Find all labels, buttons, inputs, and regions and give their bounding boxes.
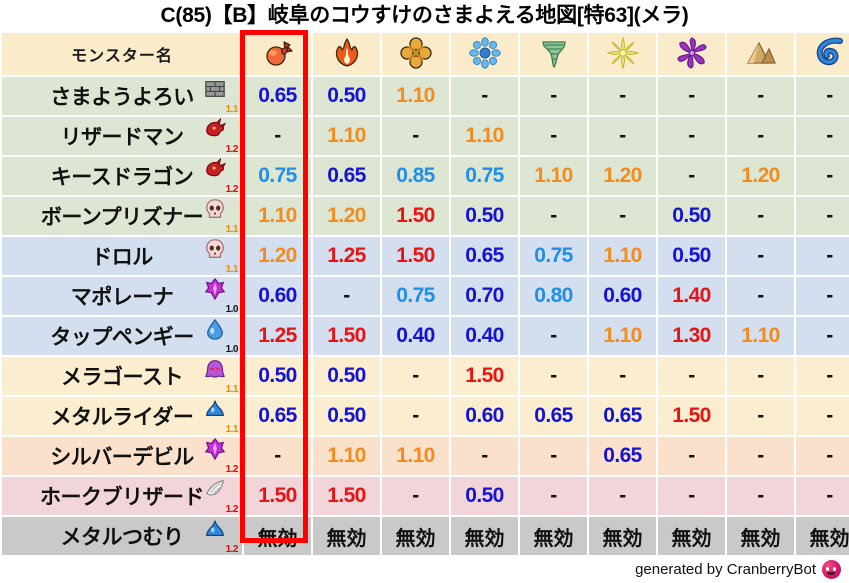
resistance-cell: - bbox=[520, 477, 587, 515]
resistance-cell: - bbox=[727, 237, 794, 275]
resistance-cell: - bbox=[244, 117, 311, 155]
resistance-cell: - bbox=[727, 357, 794, 395]
resistance-cell: - bbox=[382, 357, 449, 395]
monster-name-label: さまようよろい bbox=[50, 81, 194, 111]
resistance-cell: - bbox=[727, 277, 794, 315]
monster-type-badge: 1.0 bbox=[202, 278, 236, 314]
resistance-cell: - bbox=[796, 397, 849, 435]
table-header-row: モンスター名 bbox=[2, 33, 849, 75]
monster-version-label: 1.1 bbox=[226, 424, 238, 435]
monster-version-label: 1.0 bbox=[226, 304, 238, 315]
table-row: リザードマン 1.2-1.10-1.10----- bbox=[2, 117, 849, 155]
resistance-cell: 無効 bbox=[244, 517, 311, 555]
resistance-cell: - bbox=[589, 477, 656, 515]
resistance-cell: - bbox=[313, 277, 380, 315]
monster-type-badge: 1.0 bbox=[202, 318, 236, 354]
skull-icon bbox=[204, 238, 226, 267]
resistance-cell: 1.30 bbox=[658, 317, 725, 355]
resistance-cell: 無効 bbox=[658, 517, 725, 555]
monster-version-label: 1.1 bbox=[226, 104, 238, 115]
resistance-cell: - bbox=[727, 197, 794, 235]
column-header-wave-icon[interactable] bbox=[796, 33, 849, 75]
table-row: メタルライダー 1.10.650.50-0.600.650.651.50-- bbox=[2, 397, 849, 435]
resistance-cell: 0.75 bbox=[382, 277, 449, 315]
resistance-cell: 0.65 bbox=[244, 397, 311, 435]
sparkle-star-icon bbox=[606, 37, 640, 71]
monster-name-label: タップペンギー bbox=[50, 321, 194, 351]
wing-icon bbox=[204, 478, 226, 507]
resistance-cell: - bbox=[796, 437, 849, 475]
resistance-cell: 1.10 bbox=[382, 77, 449, 115]
resistance-cell: 1.10 bbox=[520, 157, 587, 195]
resistance-cell: 1.50 bbox=[382, 197, 449, 235]
resistance-cell: - bbox=[589, 117, 656, 155]
resistance-cell: 1.50 bbox=[658, 397, 725, 435]
monster-name-cell[interactable]: タップペンギー 1.0 bbox=[2, 317, 242, 355]
resistance-cell: 無効 bbox=[589, 517, 656, 555]
table-row: ドロル 1.11.201.251.500.650.751.100.50-- bbox=[2, 237, 849, 275]
resistance-cell: 0.50 bbox=[451, 197, 518, 235]
monster-name-label: キースドラゴン bbox=[51, 161, 193, 191]
monster-type-badge: 1.2 bbox=[202, 118, 236, 154]
resistance-cell: 1.50 bbox=[313, 317, 380, 355]
resistance-cell: 1.20 bbox=[727, 157, 794, 195]
resistance-cell: - bbox=[520, 117, 587, 155]
table-row: メラゴースト 1.10.500.50-1.50----- bbox=[2, 357, 849, 395]
monster-name-label: メタルつむり bbox=[61, 521, 184, 551]
wave-icon bbox=[813, 37, 847, 71]
column-header-dark-pinwheel-icon[interactable] bbox=[658, 33, 725, 75]
monster-name-cell[interactable]: マポレーナ 1.0 bbox=[2, 277, 242, 315]
resistance-cell: 1.10 bbox=[244, 197, 311, 235]
ghost-icon bbox=[204, 358, 226, 387]
resistance-cell: - bbox=[796, 77, 849, 115]
column-header-flame-icon[interactable] bbox=[313, 33, 380, 75]
resistance-cell: - bbox=[796, 317, 849, 355]
resistance-cell: 0.60 bbox=[589, 277, 656, 315]
resistance-cell: - bbox=[520, 357, 587, 395]
resistance-cell: 0.70 bbox=[451, 277, 518, 315]
monster-name-cell[interactable]: リザードマン 1.2 bbox=[2, 117, 242, 155]
resistance-cell: 0.50 bbox=[313, 397, 380, 435]
column-header-mountain-icon[interactable] bbox=[727, 33, 794, 75]
resistance-cell: 1.20 bbox=[589, 157, 656, 195]
resistance-cell: 1.10 bbox=[727, 317, 794, 355]
monster-version-label: 1.0 bbox=[226, 344, 238, 355]
resistance-cell: - bbox=[520, 77, 587, 115]
resistance-cell: 無効 bbox=[451, 517, 518, 555]
resistance-cell: 0.75 bbox=[520, 237, 587, 275]
table-row: さまようよろい 1.10.650.501.10------ bbox=[2, 77, 849, 115]
resistance-cell: - bbox=[727, 437, 794, 475]
resistance-cell: 0.50 bbox=[658, 237, 725, 275]
monster-name-cell[interactable]: ドロル 1.1 bbox=[2, 237, 242, 275]
dark-crystal-icon bbox=[204, 438, 226, 467]
monster-name-cell[interactable]: ボーンプリズナー 1.1 bbox=[2, 197, 242, 235]
monster-version-label: 1.1 bbox=[226, 264, 238, 275]
resistance-cell: 0.40 bbox=[451, 317, 518, 355]
resistance-cell: - bbox=[589, 77, 656, 115]
brick-wall-icon bbox=[204, 78, 226, 107]
monster-type-badge: 1.1 bbox=[202, 398, 236, 434]
resistance-cell: - bbox=[658, 477, 725, 515]
resistance-cell: - bbox=[244, 437, 311, 475]
slime-icon bbox=[204, 518, 226, 547]
resistance-cell: - bbox=[658, 77, 725, 115]
monster-name-cell[interactable]: メタルつむり 1.2 bbox=[2, 517, 242, 555]
cranberry-icon bbox=[822, 560, 841, 579]
resistance-cell: 0.65 bbox=[313, 157, 380, 195]
resistance-cell: - bbox=[796, 117, 849, 155]
resistance-cell: 1.20 bbox=[244, 237, 311, 275]
resistance-cell: - bbox=[796, 157, 849, 195]
table-row: ボーンプリズナー 1.11.101.201.500.50--0.50-- bbox=[2, 197, 849, 235]
resistance-cell: 1.10 bbox=[589, 317, 656, 355]
monster-version-label: 1.2 bbox=[226, 464, 238, 475]
monster-name-cell[interactable]: ホークブリザード 1.2 bbox=[2, 477, 242, 515]
monster-type-badge: 1.2 bbox=[202, 518, 236, 554]
slime-icon bbox=[204, 398, 226, 427]
resistance-cell: - bbox=[520, 437, 587, 475]
monster-name-label: マポレーナ bbox=[71, 281, 174, 311]
resistance-cell: 1.10 bbox=[382, 437, 449, 475]
table-row: メタルつむり 1.2無効無効無効無効無効無効無効無効無効 bbox=[2, 517, 849, 555]
table-row: キースドラゴン 1.20.750.650.850.751.101.20-1.20… bbox=[2, 157, 849, 195]
resistance-cell: 0.50 bbox=[313, 357, 380, 395]
resistance-cell: - bbox=[796, 357, 849, 395]
resistance-cell: 0.50 bbox=[451, 477, 518, 515]
mountain-icon bbox=[744, 37, 778, 71]
resistance-cell: - bbox=[727, 397, 794, 435]
resistance-cell: 1.20 bbox=[313, 197, 380, 235]
resistance-cell: 1.50 bbox=[451, 357, 518, 395]
resistance-cell: 1.10 bbox=[313, 117, 380, 155]
explosion-icon bbox=[399, 37, 433, 71]
resistance-cell: 1.10 bbox=[313, 437, 380, 475]
monster-name-label: ドロル bbox=[91, 241, 153, 271]
monster-name-cell[interactable]: キースドラゴン 1.2 bbox=[2, 157, 242, 195]
resistance-cell: 無効 bbox=[382, 517, 449, 555]
water-drop-icon bbox=[204, 318, 226, 347]
table-row: シルバーデビル 1.2-1.101.10--0.65--- bbox=[2, 437, 849, 475]
page-root: C(85)【B】岐阜のコウすけのさまよえる地図[特63](メラ) モンスター名 bbox=[0, 0, 849, 583]
meteor-fire-icon bbox=[261, 37, 295, 71]
monster-name-cell[interactable]: メラゴースト 1.1 bbox=[2, 357, 242, 395]
column-header-snowflake-icon[interactable] bbox=[451, 33, 518, 75]
monster-type-badge: 1.2 bbox=[202, 438, 236, 474]
monster-version-label: 1.1 bbox=[226, 224, 238, 235]
resistance-cell: - bbox=[658, 357, 725, 395]
dark-pinwheel-icon bbox=[675, 37, 709, 71]
resistance-cell: - bbox=[658, 157, 725, 195]
dragon-head-icon bbox=[204, 118, 226, 147]
monster-version-label: 1.2 bbox=[226, 144, 238, 155]
resistance-cell: - bbox=[727, 477, 794, 515]
monster-type-badge: 1.2 bbox=[202, 478, 236, 514]
resistance-cell: 0.50 bbox=[658, 197, 725, 235]
resistance-cell: - bbox=[727, 77, 794, 115]
resistance-cell: - bbox=[520, 317, 587, 355]
resistance-cell: - bbox=[727, 117, 794, 155]
monster-name-cell[interactable]: シルバーデビル 1.2 bbox=[2, 437, 242, 475]
resistance-cell: - bbox=[451, 437, 518, 475]
resistance-cell: - bbox=[382, 397, 449, 435]
resistance-cell: 0.60 bbox=[451, 397, 518, 435]
resistance-cell: 無効 bbox=[727, 517, 794, 555]
resistance-cell: 0.60 bbox=[244, 277, 311, 315]
monster-type-badge: 1.1 bbox=[202, 238, 236, 274]
table-row: タップペンギー 1.01.251.500.400.40-1.101.301.10… bbox=[2, 317, 849, 355]
resistance-cell: 1.50 bbox=[382, 237, 449, 275]
resistance-cell: 0.65 bbox=[244, 77, 311, 115]
monster-type-badge: 1.1 bbox=[202, 198, 236, 234]
resistance-cell: 0.80 bbox=[520, 277, 587, 315]
monster-name-label: ボーンプリズナー bbox=[41, 201, 203, 231]
column-header-meteor-fire-icon[interactable] bbox=[244, 33, 311, 75]
resistance-cell: 0.75 bbox=[451, 157, 518, 195]
resistance-cell: 0.50 bbox=[244, 357, 311, 395]
monster-version-label: 1.2 bbox=[226, 184, 238, 195]
resistance-cell: - bbox=[451, 77, 518, 115]
resistance-cell: - bbox=[382, 477, 449, 515]
resistance-table: モンスター名 bbox=[0, 31, 849, 557]
resistance-cell: - bbox=[589, 197, 656, 235]
resistance-cell: 無効 bbox=[520, 517, 587, 555]
resistance-cell: 0.85 bbox=[382, 157, 449, 195]
monster-name-cell[interactable]: さまようよろい 1.1 bbox=[2, 77, 242, 115]
monster-name-label: シルバーデビル bbox=[50, 441, 194, 471]
skull-icon bbox=[204, 198, 226, 227]
monster-version-label: 1.1 bbox=[226, 384, 238, 395]
monster-name-label: リザードマン bbox=[61, 121, 184, 151]
resistance-cell: - bbox=[520, 197, 587, 235]
resistance-cell: - bbox=[796, 277, 849, 315]
page-title: C(85)【B】岐阜のコウすけのさまよえる地図[特63](メラ) bbox=[0, 0, 849, 30]
monster-type-badge: 1.1 bbox=[202, 358, 236, 394]
resistance-cell: - bbox=[796, 237, 849, 275]
column-header-explosion-icon[interactable] bbox=[382, 33, 449, 75]
resistance-cell: 1.50 bbox=[313, 477, 380, 515]
resistance-cell: - bbox=[796, 477, 849, 515]
resistance-cell: 1.10 bbox=[589, 237, 656, 275]
resistance-cell: 0.50 bbox=[313, 77, 380, 115]
resistance-cell: 0.40 bbox=[382, 317, 449, 355]
monster-name-cell[interactable]: メタルライダー 1.1 bbox=[2, 397, 242, 435]
flame-icon bbox=[330, 37, 364, 71]
monster-name-label: メタルライダー bbox=[51, 401, 194, 431]
resistance-cell: 0.65 bbox=[589, 437, 656, 475]
footer-credit: generated by CranberryBot bbox=[635, 560, 841, 579]
resistance-cell: - bbox=[796, 197, 849, 235]
monster-version-label: 1.2 bbox=[226, 504, 238, 515]
column-header-monster-name: モンスター名 bbox=[2, 33, 242, 75]
snowflake-icon bbox=[468, 37, 502, 71]
resistance-cell: - bbox=[589, 357, 656, 395]
table-row: ホークブリザード 1.21.501.50-0.50----- bbox=[2, 477, 849, 515]
resistance-cell: - bbox=[658, 117, 725, 155]
resistance-cell: - bbox=[658, 437, 725, 475]
monster-name-label: ホークブリザード bbox=[40, 481, 204, 511]
monster-version-label: 1.2 bbox=[226, 544, 238, 555]
resistance-cell: 1.10 bbox=[451, 117, 518, 155]
resistance-cell: 1.25 bbox=[313, 237, 380, 275]
monster-type-badge: 1.2 bbox=[202, 158, 236, 194]
resistance-cell: 0.65 bbox=[451, 237, 518, 275]
tornado-icon bbox=[537, 37, 571, 71]
table-row: マポレーナ 1.00.60-0.750.700.800.601.40-- bbox=[2, 277, 849, 315]
footer-text: generated by CranberryBot bbox=[635, 561, 816, 578]
resistance-cell: 0.65 bbox=[589, 397, 656, 435]
column-header-tornado-icon[interactable] bbox=[520, 33, 587, 75]
resistance-cell: 1.25 bbox=[244, 317, 311, 355]
resistance-cell: 無効 bbox=[313, 517, 380, 555]
monster-name-label: メラゴースト bbox=[61, 361, 183, 391]
column-header-sparkle-star-icon[interactable] bbox=[589, 33, 656, 75]
table-body: モンスター名 bbox=[2, 33, 849, 555]
resistance-cell: - bbox=[382, 117, 449, 155]
monster-type-badge: 1.1 bbox=[202, 78, 236, 114]
dark-crystal-icon bbox=[204, 278, 226, 307]
resistance-cell: 0.65 bbox=[520, 397, 587, 435]
resistance-cell: 無効 bbox=[796, 517, 849, 555]
dragon-head-icon bbox=[204, 158, 226, 187]
resistance-cell: 1.50 bbox=[244, 477, 311, 515]
resistance-cell: 1.40 bbox=[658, 277, 725, 315]
resistance-cell: 0.75 bbox=[244, 157, 311, 195]
